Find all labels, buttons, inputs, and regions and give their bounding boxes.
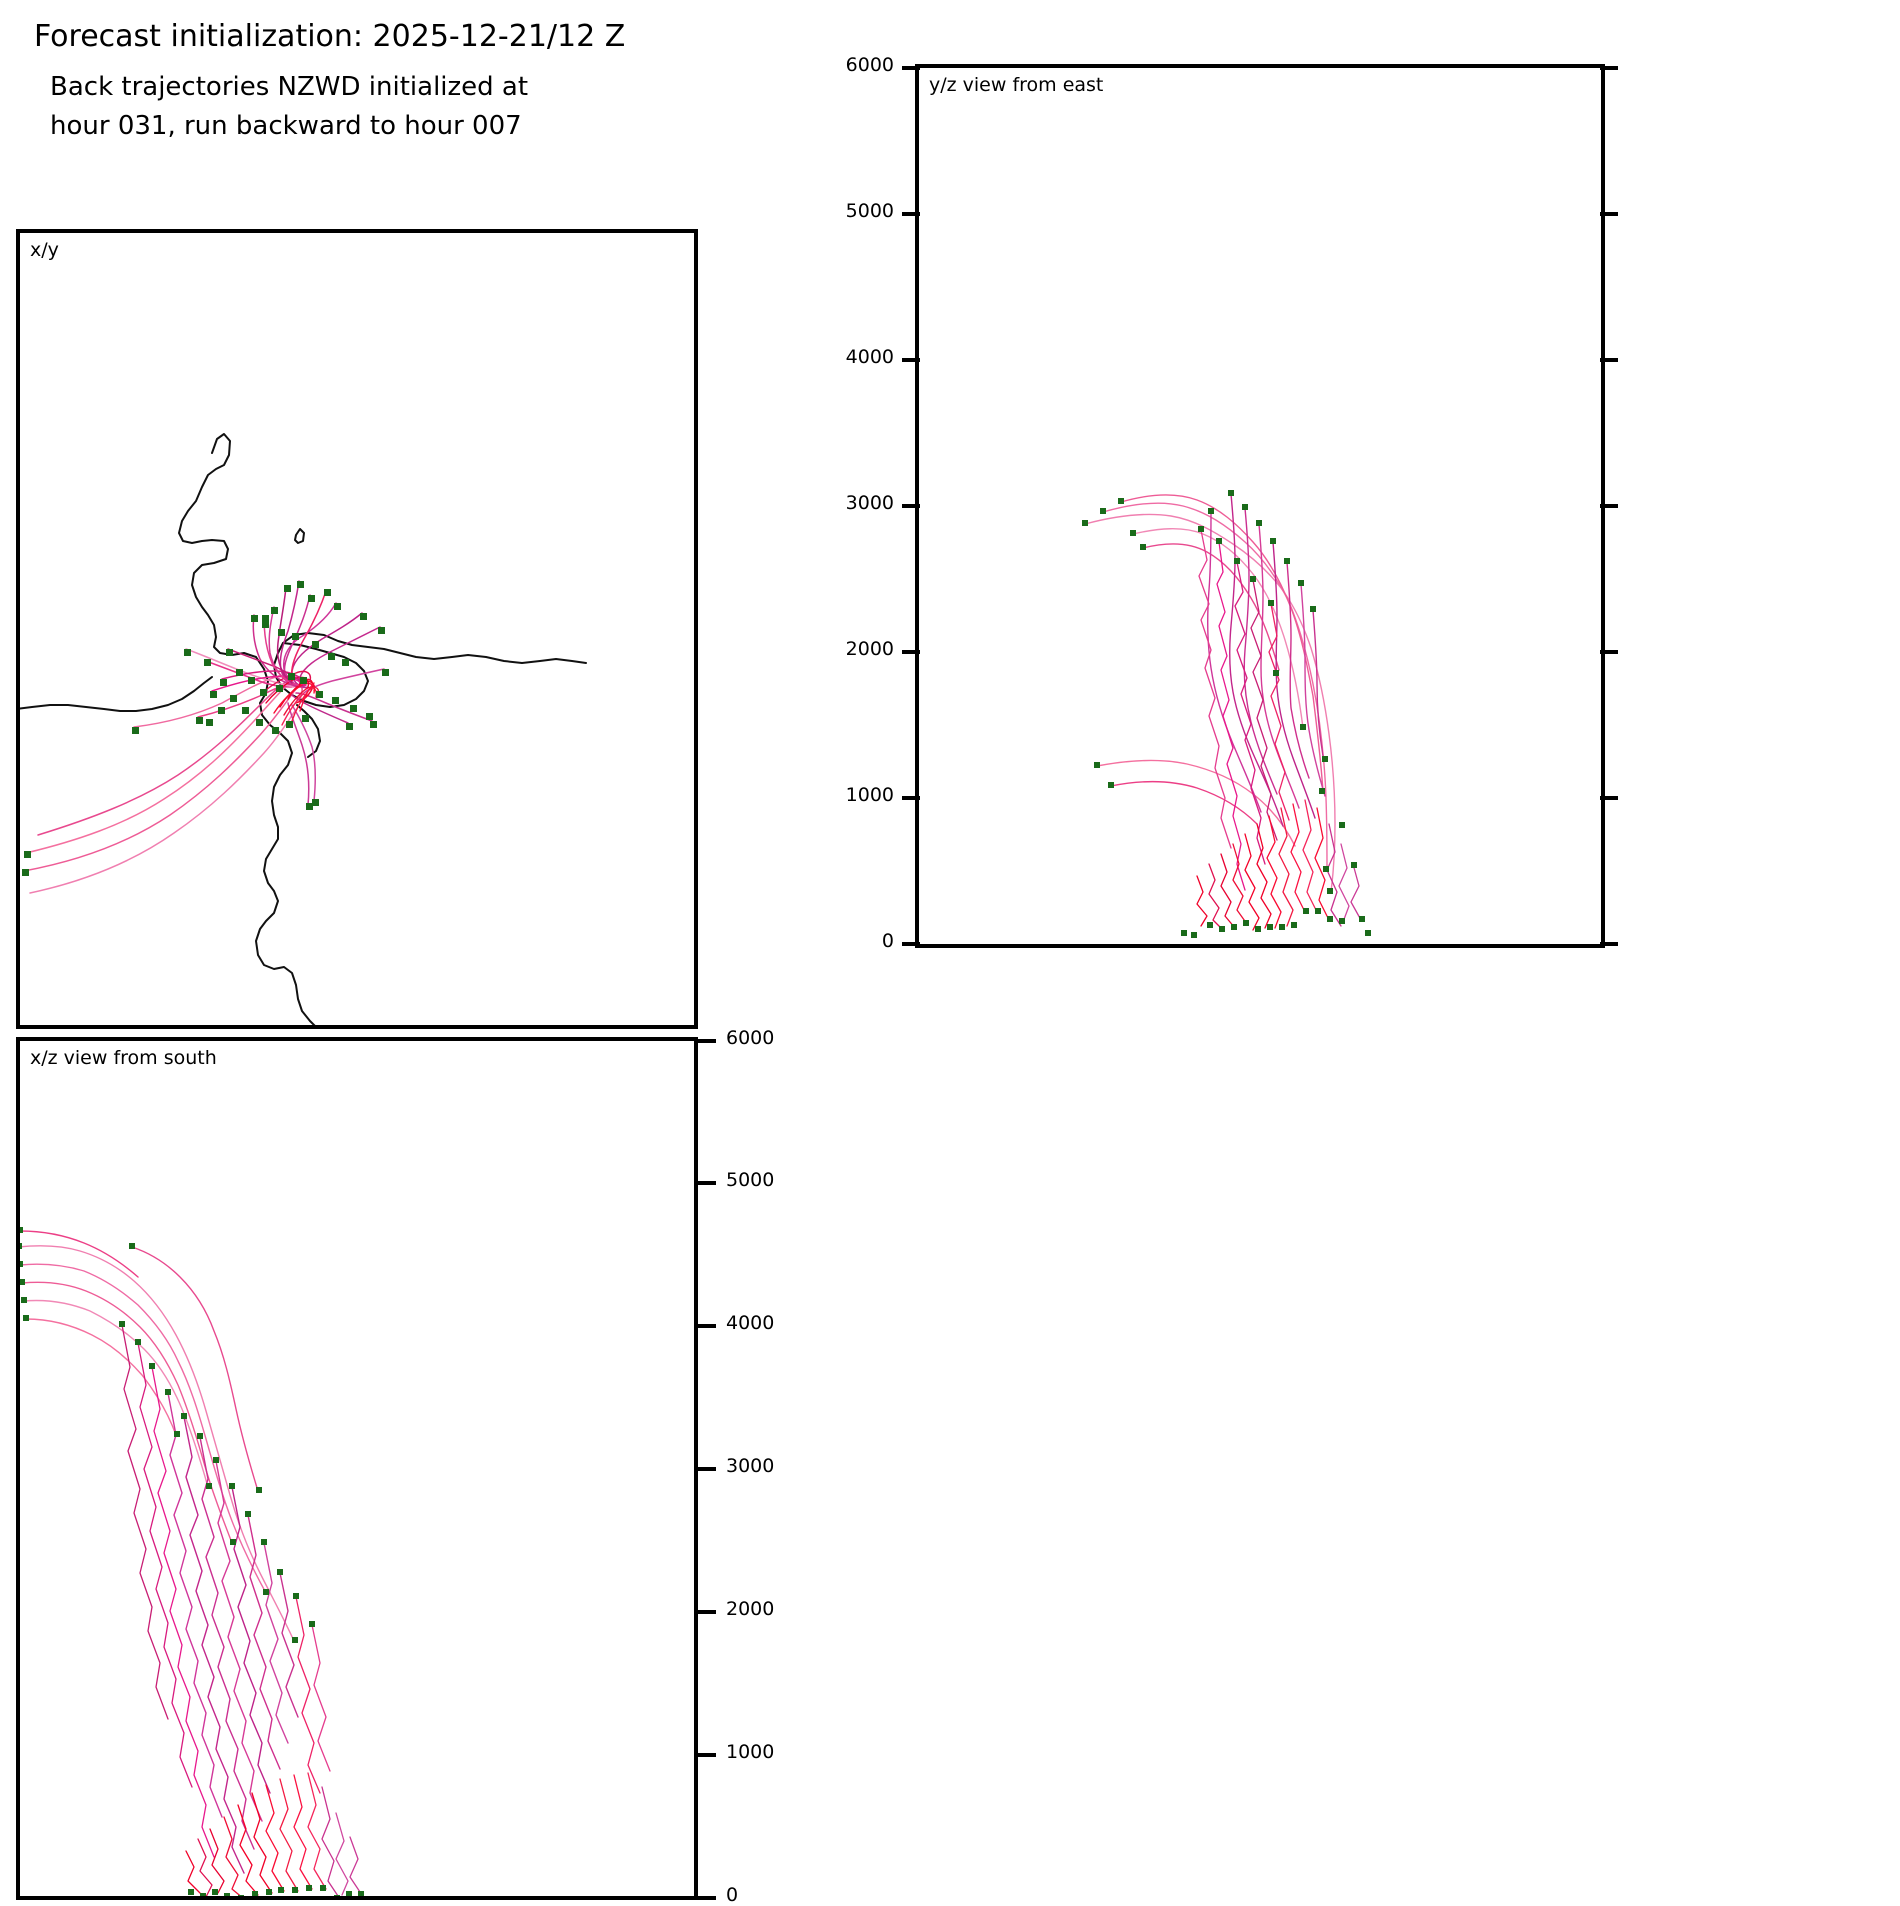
page-title: Forecast initialization: 2025-12-21/12 Z	[34, 18, 625, 56]
tick-right-5000	[1600, 212, 1618, 216]
tick-1000	[902, 796, 920, 800]
trajectory-endpoints-xz	[16, 1227, 364, 1900]
ticklabel-6000: 6000	[846, 56, 894, 75]
axis-xz-height: 6000 5000 4000 3000 2000 1000 0	[698, 1037, 808, 1900]
trajectory-lines-xz	[18, 1231, 362, 1899]
trajectory-figure: Forecast initialization: 2025-12-21/12 Z…	[0, 0, 1900, 1900]
ticklabel-xz-3000: 3000	[726, 1457, 774, 1476]
ticklabel-0: 0	[882, 932, 894, 951]
tick-xz-5000	[698, 1181, 716, 1185]
tick-xz-2000	[698, 1610, 716, 1614]
tick-2000	[902, 650, 920, 654]
ticklabel-xz-0: 0	[726, 1886, 738, 1905]
panel-yz-plot	[915, 64, 1605, 948]
ticklabel-4000: 4000	[846, 348, 894, 367]
trajectory-lines-xy	[24, 581, 384, 893]
trajectory-lines-yz	[1085, 494, 1361, 930]
subtitle-line-1: Back trajectories NZWD initialized at	[50, 72, 528, 102]
tick-right-3000	[1600, 504, 1618, 508]
axis-yz-right-ticks	[1600, 64, 1624, 948]
tick-xz-1000	[698, 1753, 716, 1757]
tick-right-0	[1600, 942, 1618, 946]
tick-4000	[902, 358, 920, 362]
panel-xy-label: x/y	[30, 239, 59, 261]
tick-right-4000	[1600, 358, 1618, 362]
ticklabel-2000: 2000	[846, 640, 894, 659]
tick-xz-4000	[698, 1324, 716, 1328]
ticklabel-xz-4000: 4000	[726, 1314, 774, 1333]
tick-right-1000	[1600, 796, 1618, 800]
panel-xy-plot	[16, 229, 698, 1029]
panel-xz[interactable]: x/z view from south	[16, 1037, 698, 1900]
tick-3000	[902, 504, 920, 508]
ticklabel-3000: 3000	[846, 494, 894, 513]
coastline-xy	[16, 434, 586, 1029]
panel-yz-label: y/z view from east	[929, 74, 1103, 96]
tick-5000	[902, 212, 920, 216]
tick-xz-3000	[698, 1467, 716, 1471]
panel-yz[interactable]: y/z view from east	[915, 64, 1605, 948]
tick-right-6000	[1600, 66, 1618, 70]
tick-6000	[902, 66, 920, 70]
ticklabel-xz-6000: 6000	[726, 1029, 774, 1048]
tick-right-2000	[1600, 650, 1618, 654]
subtitle-line-2: hour 031, run backward to hour 007	[50, 111, 522, 141]
ticklabel-xz-2000: 2000	[726, 1600, 774, 1619]
axis-yz-height: 6000 5000 4000 3000 2000 1000 0	[830, 64, 920, 948]
page-subtitle: Back trajectories NZWD initialized at ho…	[50, 68, 528, 146]
ticklabel-1000: 1000	[846, 786, 894, 805]
panel-xz-plot	[16, 1037, 698, 1900]
tick-0	[902, 942, 920, 946]
panel-xz-label: x/z view from south	[30, 1047, 217, 1069]
panel-xy[interactable]: x/y	[16, 229, 698, 1029]
ticklabel-xz-5000: 5000	[726, 1171, 774, 1190]
tick-xz-0	[698, 1896, 716, 1900]
tick-xz-6000	[698, 1039, 716, 1043]
ticklabel-xz-1000: 1000	[726, 1743, 774, 1762]
trajectory-endpoints-xy	[22, 581, 389, 876]
ticklabel-5000: 5000	[846, 202, 894, 221]
